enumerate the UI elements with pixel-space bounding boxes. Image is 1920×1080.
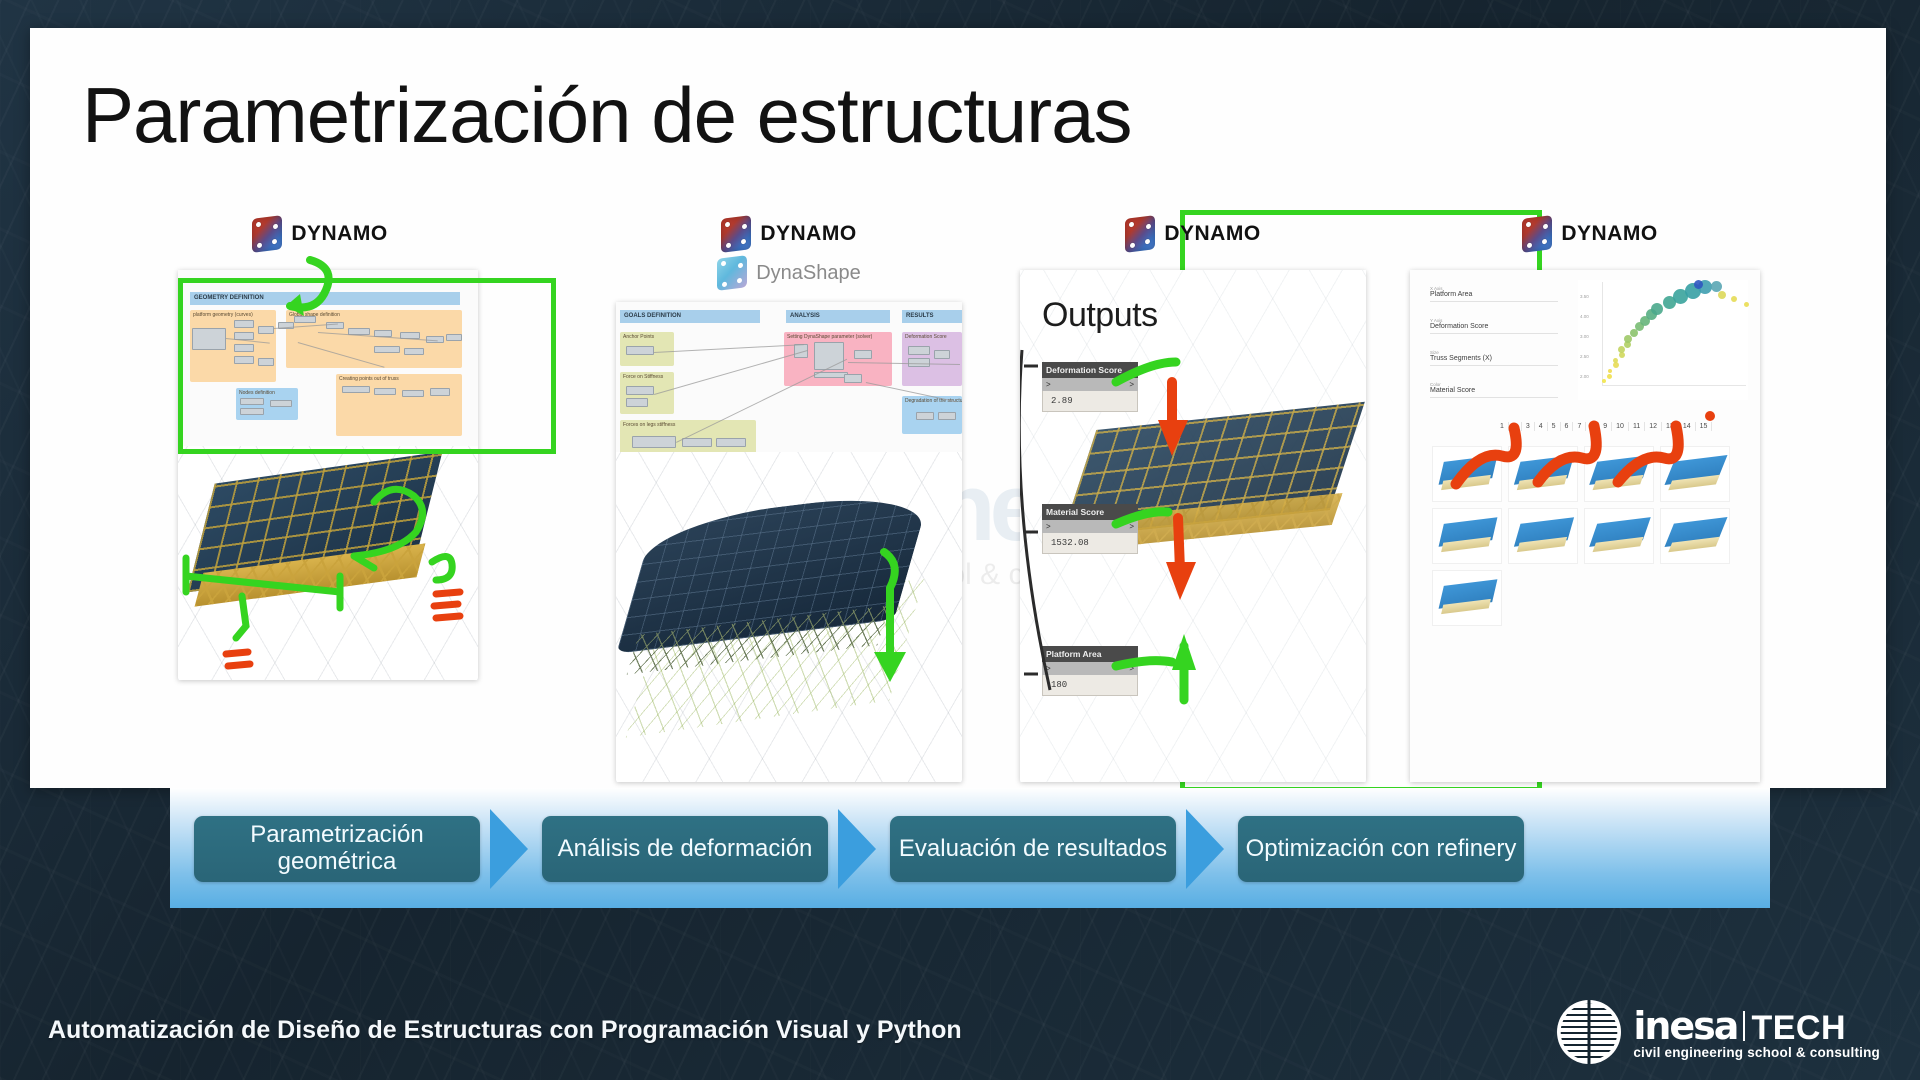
process-chevron-3 xyxy=(1184,809,1226,889)
pagination-item[interactable]: 1 xyxy=(1496,422,1509,431)
pagination-item[interactable]: 2 xyxy=(1509,422,1522,431)
chart-bubble xyxy=(1608,369,1612,373)
process-step-2[interactable]: Análisis de deformación xyxy=(542,816,828,882)
design-thumbnail[interactable] xyxy=(1584,508,1654,564)
chart-y-tick: 4.00 xyxy=(1580,314,1589,319)
design-thumbnail[interactable] xyxy=(1660,446,1730,502)
graph-node xyxy=(908,346,930,355)
column-parametrizacion: DYNAMO GEOMETRY DEFINITION platform geom… xyxy=(170,214,470,794)
slide-canvas: Parametrización de estructuras inesa eng… xyxy=(30,28,1886,788)
dynamo-brand-col3: DYNAMO xyxy=(1012,214,1374,254)
graph-node xyxy=(626,398,648,407)
inesa-tech-logo: inesa TECH civil engineering school & co… xyxy=(1557,1000,1880,1064)
port-in[interactable]: > xyxy=(1046,522,1051,531)
pagination-item[interactable]: 5 xyxy=(1548,422,1561,431)
chart-bubble xyxy=(1613,358,1618,363)
node-title: Material Score xyxy=(1042,504,1138,520)
field-value: Deformation Score xyxy=(1430,323,1558,334)
output-node-deformation-score[interactable]: Deformation Score > > 2.89 xyxy=(1042,362,1138,412)
pagination-item[interactable]: 9 xyxy=(1599,422,1612,431)
dynamo-label: DYNAMO xyxy=(291,222,387,246)
refinery-field-x-axis[interactable]: X Axis Platform Area xyxy=(1430,286,1558,302)
design-thumbnail[interactable] xyxy=(1660,508,1730,564)
logo-suffix: TECH xyxy=(1751,1009,1846,1048)
field-value: Material Score xyxy=(1430,387,1558,398)
refinery-scatter-chart[interactable]: 3.504.003.002.502.00 xyxy=(1578,280,1748,400)
pagination-item[interactable]: 15 xyxy=(1696,422,1713,431)
column-optimizacion: DYNAMO X Axis Platform Area Y Axis Defor… xyxy=(1410,214,1770,794)
node-title: Deformation Score xyxy=(1042,362,1138,378)
process-step-3[interactable]: Evaluación de resultados xyxy=(890,816,1176,882)
process-step-4[interactable]: Optimización con refinery xyxy=(1238,816,1524,882)
design-thumbnail[interactable] xyxy=(1432,446,1502,502)
pagination-item[interactable]: 12 xyxy=(1645,422,1662,431)
pagination-item[interactable]: 7 xyxy=(1573,422,1586,431)
thumbnail-pagination[interactable]: 123456789101112131415 xyxy=(1496,422,1712,431)
chart-y-tick: 3.50 xyxy=(1580,294,1589,299)
dynamo-label: DYNAMO xyxy=(1164,222,1260,246)
outputs-title: Outputs xyxy=(1042,296,1158,335)
node-ports: > > xyxy=(1042,662,1138,675)
port-out[interactable]: > xyxy=(1129,380,1134,389)
pagination-item[interactable]: 14 xyxy=(1679,422,1696,431)
dynashape-logo-icon xyxy=(717,255,747,291)
pagination-item[interactable]: 10 xyxy=(1612,422,1629,431)
dynamo-logo-icon xyxy=(1522,215,1552,253)
port-out[interactable]: > xyxy=(1129,664,1134,673)
node-ports: > > xyxy=(1042,378,1138,391)
design-thumbnail[interactable] xyxy=(1584,446,1654,502)
pagination-item[interactable]: 11 xyxy=(1629,422,1645,431)
dynamo-brand-col4: DYNAMO xyxy=(1410,214,1770,254)
design-thumbnail[interactable] xyxy=(1432,570,1502,626)
chart-bubble xyxy=(1630,329,1638,337)
chart-bubble xyxy=(1731,296,1737,302)
chart-y-tick: 2.00 xyxy=(1580,374,1589,379)
process-chevron-1 xyxy=(488,809,530,889)
dynamo-logo-icon xyxy=(721,215,751,253)
graph-node xyxy=(934,350,950,359)
graph-node xyxy=(938,412,956,420)
logo-name: inesa xyxy=(1633,1004,1737,1048)
output-node-material-score[interactable]: Material Score > > 1532.08 xyxy=(1042,504,1138,554)
chart-bubble xyxy=(1744,302,1749,307)
port-in[interactable]: > xyxy=(1046,380,1051,389)
chart-bubble xyxy=(1602,379,1606,383)
pagination-item[interactable]: 6 xyxy=(1561,422,1574,431)
dynamo-brand-col1: DYNAMO xyxy=(170,214,470,254)
refinery-field-y-axis[interactable]: Y Axis Deformation Score xyxy=(1430,318,1558,334)
dynamo-graph-screenshot-col2[interactable]: GOALS DEFINITION ANALYSIS RESULTS Anchor… xyxy=(616,302,962,782)
refinery-field-size[interactable]: Size Truss Segments (X) xyxy=(1430,350,1558,366)
process-chevron-2 xyxy=(836,809,878,889)
graph-node xyxy=(682,438,712,447)
node-value: 2.89 xyxy=(1042,391,1138,412)
node-value: 180 xyxy=(1042,675,1138,696)
design-thumbnail[interactable] xyxy=(1508,508,1578,564)
dynamo-logo-icon xyxy=(1125,215,1155,253)
graph-node xyxy=(844,374,862,383)
inesa-globe-icon xyxy=(1557,1000,1621,1064)
graph-node xyxy=(716,438,746,447)
graph-node xyxy=(916,412,934,420)
port-in[interactable]: > xyxy=(1046,664,1051,673)
pagination-item[interactable]: 8 xyxy=(1586,422,1599,431)
graph-node xyxy=(854,350,872,359)
dynamo-label: DYNAMO xyxy=(760,222,856,246)
field-value: Truss Segments (X) xyxy=(1430,355,1558,366)
graph-node xyxy=(814,342,844,370)
design-thumbnail[interactable] xyxy=(1508,446,1578,502)
logo-tagline: civil engineering school & consulting xyxy=(1633,1045,1880,1060)
refinery-screenshot[interactable]: X Axis Platform Area Y Axis Deformation … xyxy=(1410,270,1760,782)
dynashape-label: DynaShape xyxy=(756,262,861,285)
viewport-3d-col1[interactable] xyxy=(178,446,478,680)
dynamo-logo-icon xyxy=(252,215,282,253)
footer-title: Automatización de Diseño de Estructuras … xyxy=(48,1016,962,1045)
design-thumbnail[interactable] xyxy=(1432,508,1502,564)
column-analisis: DYNAMO DynaShape GOALS DEFINITION ANALYS… xyxy=(608,214,970,794)
graph-node xyxy=(626,346,654,355)
highlight-box-geometry-definition xyxy=(178,278,556,454)
logo-wordmark: inesa TECH xyxy=(1633,1004,1880,1048)
graph-wire xyxy=(654,344,804,353)
port-out[interactable]: > xyxy=(1129,522,1134,531)
refinery-field-color[interactable]: Color Material Score xyxy=(1430,382,1558,398)
output-node-platform-area[interactable]: Platform Area > > 180 xyxy=(1042,646,1138,696)
graph-node xyxy=(626,386,654,395)
graph-group-header: RESULTS xyxy=(902,310,962,323)
logo-divider xyxy=(1743,1011,1745,1041)
page-title: Parametrización de estructuras xyxy=(82,70,1131,161)
pagination-item[interactable]: 3 xyxy=(1522,422,1535,431)
dynamo-brand-col2: DYNAMO xyxy=(608,214,970,254)
node-title: Platform Area xyxy=(1042,646,1138,662)
graph-wire xyxy=(676,359,847,443)
pagination-item[interactable]: 13 xyxy=(1662,422,1679,431)
graph-group-header: ANALYSIS xyxy=(786,310,890,323)
dynamo-label: DYNAMO xyxy=(1561,222,1657,246)
chart-y-tick: 3.00 xyxy=(1580,334,1589,339)
chart-bubble xyxy=(1694,280,1703,289)
graph-node xyxy=(632,436,676,448)
node-ports: > > xyxy=(1042,520,1138,533)
node-value: 1532.08 xyxy=(1042,533,1138,554)
dynamo-outputs-screenshot[interactable]: Outputs Deformation Score > > 2.89 Mater… xyxy=(1020,270,1366,782)
dynashape-brand: DynaShape xyxy=(608,256,970,290)
pagination-item[interactable]: 4 xyxy=(1535,422,1548,431)
graph-group-header: GOALS DEFINITION xyxy=(620,310,760,323)
field-value: Platform Area xyxy=(1430,291,1558,302)
process-step-1[interactable]: Parametrización geométrica xyxy=(194,816,480,882)
process-flow-ribbon: Parametrización geométrica Análisis de d… xyxy=(170,788,1770,908)
viewport-3d-col2[interactable] xyxy=(616,452,962,782)
logo-text: inesa TECH civil engineering school & co… xyxy=(1633,1004,1880,1060)
pipeline-columns: DYNAMO GEOMETRY DEFINITION platform geom… xyxy=(30,214,1886,794)
chart-bubble xyxy=(1607,374,1612,379)
chart-y-tick: 2.50 xyxy=(1580,354,1589,359)
column-evaluacion: DYNAMO Outputs Deformation Score > xyxy=(1012,214,1374,794)
